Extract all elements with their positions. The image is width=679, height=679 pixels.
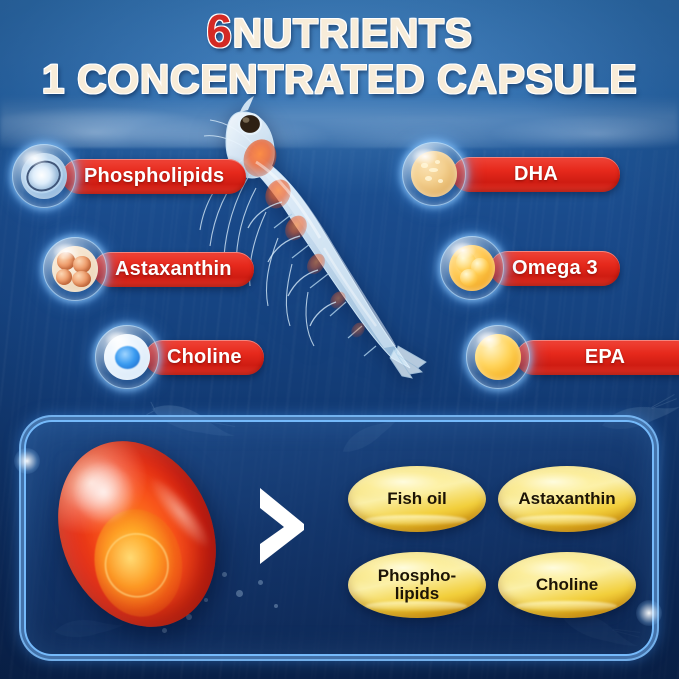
krill-oil-product-infographic: 6NUTRIENTS 1 CONCENTRATED CAPSULE (0, 0, 679, 679)
title-line-1: 6NUTRIENTS (0, 8, 679, 54)
ingredient-oval-choline[interactable]: Choline (498, 552, 636, 618)
ingredient-label: Phospho-lipids (378, 567, 456, 603)
nutrient-label: EPA (585, 346, 625, 369)
ingredient-label-line1: Phospho- (378, 566, 456, 585)
nutrient-row-phospholipids[interactable]: Phospholipids (12, 144, 246, 208)
nutrient-row-astaxanthin[interactable]: Astaxanthin (43, 237, 254, 301)
nutrient-label: Astaxanthin (115, 258, 232, 281)
nutrient-label: Choline (167, 346, 242, 369)
nutrient-row-dha[interactable]: DHA (402, 142, 620, 206)
epa-bubble-icon (466, 325, 530, 389)
title-line-1-text: NUTRIENTS (233, 10, 473, 56)
ingredient-label-line2: lipids (395, 584, 439, 603)
ingredient-oval-grid: Fish oil Astaxanthin Phospho-lipids Chol… (348, 466, 636, 618)
greater-than-icon (254, 484, 310, 568)
nutrient-row-choline[interactable]: Choline (95, 325, 264, 389)
water-bubble (236, 590, 243, 597)
water-bubble (222, 572, 227, 577)
nutrient-badge-dha[interactable]: DHA (452, 157, 620, 192)
water-bubble (274, 604, 278, 608)
nutrient-label: DHA (514, 163, 558, 186)
dha-bubble-icon (402, 142, 466, 206)
title-line-2: 1 CONCENTRATED CAPSULE (0, 59, 679, 100)
nutrient-badge-phospholipids[interactable]: Phospholipids (62, 159, 246, 194)
nutrient-badge-astaxanthin[interactable]: Astaxanthin (93, 252, 254, 287)
astaxanthin-bubble-icon (43, 237, 107, 301)
omega3-bubble-icon (440, 236, 504, 300)
ingredient-label: Choline (536, 576, 598, 594)
nutrient-label: Phospholipids (84, 165, 224, 188)
ingredient-oval-astaxanthin[interactable]: Astaxanthin (498, 466, 636, 532)
ingredient-oval-fish-oil[interactable]: Fish oil (348, 466, 486, 532)
poster-title: 6NUTRIENTS 1 CONCENTRATED CAPSULE (0, 8, 679, 100)
ingredient-oval-phospholipids[interactable]: Phospho-lipids (348, 552, 486, 618)
nutrient-count-number: 6 (206, 5, 232, 57)
nutrient-badge-omega3[interactable]: Omega 3 (490, 251, 620, 286)
comparison-panel: Fish oil Astaxanthin Phospho-lipids Chol… (26, 422, 652, 654)
red-softgel-capsule (29, 416, 244, 652)
nutrient-row-omega3[interactable]: Omega 3 (440, 236, 620, 300)
nutrient-badge-epa[interactable]: EPA (516, 340, 679, 375)
ingredient-label: Astaxanthin (518, 490, 615, 508)
nutrient-badge-choline[interactable]: Choline (145, 340, 264, 375)
nutrient-row-epa[interactable]: EPA (466, 325, 679, 389)
water-bubble (204, 598, 208, 602)
nutrient-label: Omega 3 (512, 257, 598, 280)
phospholipid-bubble-icon (12, 144, 76, 208)
water-bubble (162, 628, 167, 633)
ingredient-label: Fish oil (387, 490, 447, 508)
choline-bubble-icon (95, 325, 159, 389)
water-bubble (258, 580, 263, 585)
